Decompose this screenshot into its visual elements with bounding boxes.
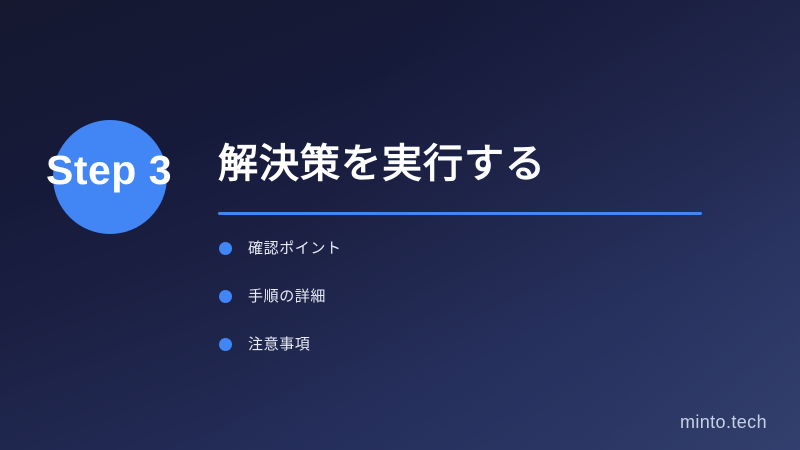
list-item-label: 手順の詳細 [248, 289, 326, 304]
list-item-label: 確認ポイント [248, 241, 342, 256]
bullet-dot-icon [219, 290, 232, 303]
title-divider [218, 212, 702, 215]
bullet-dot-icon [219, 338, 232, 351]
list-item: 注意事項 [219, 332, 689, 356]
list-item: 確認ポイント [219, 236, 689, 260]
bullet-list: 確認ポイント 手順の詳細 注意事項 [219, 236, 689, 380]
watermark: minto.tech [680, 413, 767, 431]
list-item: 手順の詳細 [219, 284, 689, 308]
list-item-label: 注意事項 [248, 337, 310, 352]
step-label: Step 3 [46, 150, 206, 191]
presentation-slide: Step 3 解決策を実行する 確認ポイント 手順の詳細 注意事項 minto.… [0, 0, 800, 450]
bullet-dot-icon [219, 242, 232, 255]
slide-title: 解決策を実行する [218, 141, 546, 188]
step-badge: Step 3 [0, 112, 210, 240]
